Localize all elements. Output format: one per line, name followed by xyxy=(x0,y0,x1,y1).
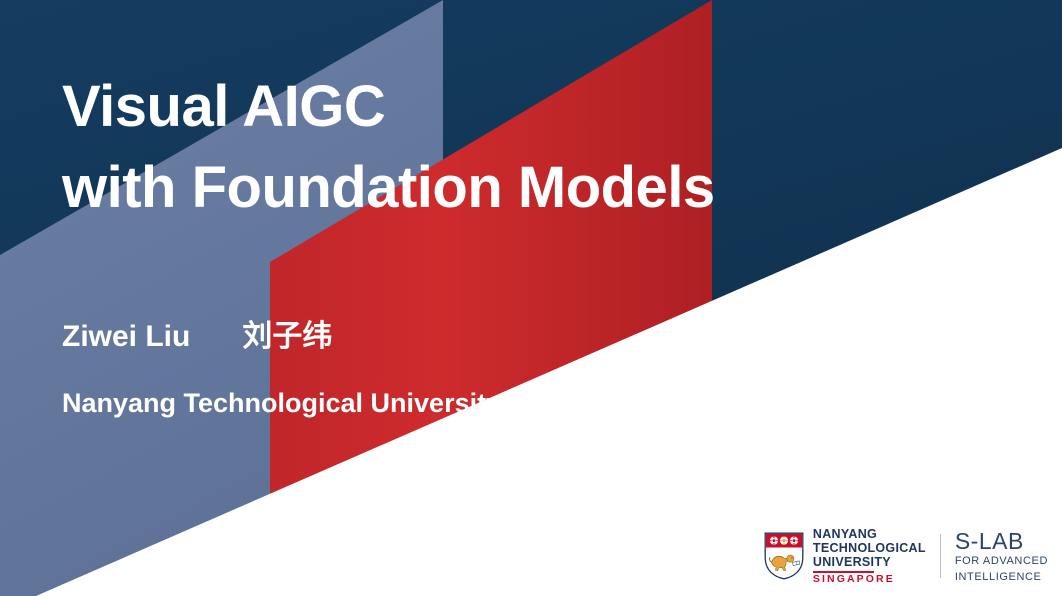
slide-byline: Ziwei Liu 刘子纬 Nanyang Technological Univ… xyxy=(62,318,501,420)
ntu-logo: NANYANG TECHNOLOGICAL UNIVERSITY SINGAPO… xyxy=(764,527,926,586)
logo-strip: NANYANG TECHNOLOGICAL UNIVERSITY SINGAPO… xyxy=(764,527,1048,586)
title-line-2: with Foundation Models xyxy=(62,147,942,228)
slab-logo-title: S-LAB xyxy=(955,529,1048,553)
affiliation-text: Nanyang Technological University xyxy=(62,387,501,421)
slab-logo-subtitle-line-2: INTELLIGENCE xyxy=(955,571,1048,584)
ntu-wordmark-line-3: UNIVERSITY xyxy=(813,555,926,569)
ntu-wordmark: NANYANG TECHNOLOGICAL UNIVERSITY SINGAPO… xyxy=(813,527,926,586)
slide-title: Visual AIGC with Foundation Models xyxy=(62,66,942,228)
ntu-wordmark-line-1: NANYANG xyxy=(813,527,926,541)
author-name-english: Ziwei Liu xyxy=(62,318,190,356)
slab-logo-subtitle-line-1: FOR ADVANCED xyxy=(955,555,1048,568)
slab-logo: S-LAB FOR ADVANCED INTELLIGENCE xyxy=(955,529,1048,584)
ntu-crest-icon xyxy=(764,532,804,580)
ntu-wordmark-line-4: SINGAPORE xyxy=(813,574,926,586)
author-name-chinese: 刘子纬 xyxy=(242,318,332,356)
author-row: Ziwei Liu 刘子纬 xyxy=(62,318,501,356)
ntu-wordmark-line-2: TECHNOLOGICAL xyxy=(813,541,926,555)
presentation-slide: Visual AIGC with Foundation Models Ziwei… xyxy=(0,0,1062,596)
logo-separator xyxy=(940,534,941,578)
title-line-1: Visual AIGC xyxy=(62,66,942,147)
